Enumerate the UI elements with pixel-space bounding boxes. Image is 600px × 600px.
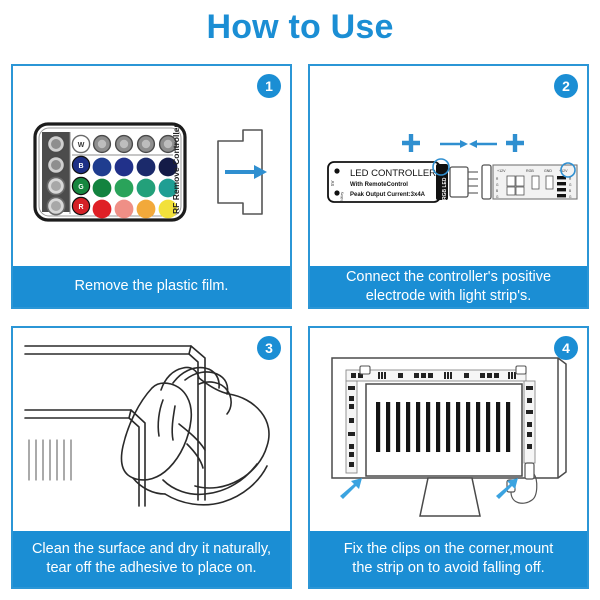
- arrow-left-icon: [469, 140, 497, 148]
- arrow-right-icon: [440, 140, 468, 148]
- panel-1-artwork: W B G R: [13, 66, 290, 266]
- tv-mounting-illustration: [310, 328, 589, 535]
- panel-step-3: 3: [11, 326, 292, 589]
- controller-subtitle-text: With RemoteControl: [350, 182, 408, 188]
- led-strip-left: [346, 381, 357, 473]
- step-badge-3: 3: [257, 336, 281, 360]
- svg-text:G: G: [78, 184, 84, 191]
- panel-3-caption: Clean the surface and dry it naturally, …: [13, 531, 290, 587]
- hand: [133, 367, 269, 504]
- caption-line: Clean the surface and dry it naturally,: [32, 540, 271, 559]
- caption-line: Connect the controller's positive: [346, 268, 551, 287]
- controller-wiring-illustration: 5V 24Key LED CONTROLLER With RemoteContr…: [310, 66, 589, 270]
- led-strip-right: [524, 381, 535, 463]
- svg-text:5V: 5V: [330, 180, 335, 186]
- plus-left-icon: [402, 134, 420, 152]
- panel-2-artwork: 5V 24Key LED CONTROLLER With RemoteContr…: [310, 66, 587, 266]
- led-strip-top: [346, 370, 526, 381]
- vent-slots: [29, 440, 71, 480]
- panel-1-caption: Remove the plastic film.: [13, 266, 290, 307]
- panel-step-1: 1: [11, 64, 292, 309]
- remote-illustration: W B G R: [13, 66, 292, 270]
- controller-title-text: LED CONTROLLER: [350, 168, 436, 179]
- panel-step-4: 4: [308, 326, 589, 589]
- remote-label-text: RF Remove Controller: [171, 124, 181, 214]
- svg-text:RGB LED: RGB LED: [442, 177, 448, 200]
- caption-line: the strip on to avoid falling off.: [352, 559, 544, 578]
- svg-text:B: B: [78, 163, 83, 170]
- caption-line: electrode with light strip's.: [366, 287, 532, 306]
- svg-text:24Key: 24Key: [340, 192, 344, 202]
- rf-remote: W B G R: [35, 124, 185, 220]
- how-to-use-infographic: How to Use 1: [0, 0, 600, 600]
- caption-line: Fix the clips on the corner,mount: [344, 540, 554, 559]
- cleaning-cloth: [121, 383, 191, 480]
- cleaning-illustration: [13, 328, 292, 535]
- svg-text:B: B: [496, 189, 498, 193]
- svg-text:R: R: [78, 204, 83, 211]
- panel-4-artwork: [310, 328, 587, 531]
- svg-text:GND: GND: [544, 169, 552, 173]
- caption-line: Remove the plastic film.: [75, 277, 229, 296]
- panel-2-caption: Connect the controller's positive electr…: [310, 266, 587, 307]
- connector-female: [482, 165, 491, 199]
- polarity-symbols: [402, 134, 524, 152]
- step-badge-2: 2: [554, 74, 578, 98]
- page-title: How to Use: [0, 8, 600, 47]
- step-badge-4: 4: [554, 336, 578, 360]
- caption-line: tear off the adhesive to place on.: [46, 559, 256, 578]
- panel-4-caption: Fix the clips on the corner,mount the st…: [310, 531, 587, 587]
- svg-text:B: B: [569, 189, 571, 193]
- panel-step-2: 2: [308, 64, 589, 309]
- svg-text:W: W: [78, 142, 85, 149]
- panel-3-artwork: [13, 328, 290, 531]
- led-controller: 5V 24Key LED CONTROLLER With RemoteContr…: [328, 159, 449, 202]
- connector-male: [450, 167, 478, 197]
- arrow-up-left-icon-left: [340, 478, 362, 499]
- svg-text:RGB: RGB: [526, 169, 534, 173]
- plus-right-icon: [506, 134, 524, 152]
- led-strip: +12V RGB GND +12V: [493, 163, 577, 199]
- step-badge-1: 1: [257, 74, 281, 98]
- controller-spec-text: Peak Output Current:3x4A: [350, 192, 426, 198]
- svg-text:+12V: +12V: [497, 169, 506, 173]
- tv-stand: [420, 478, 480, 516]
